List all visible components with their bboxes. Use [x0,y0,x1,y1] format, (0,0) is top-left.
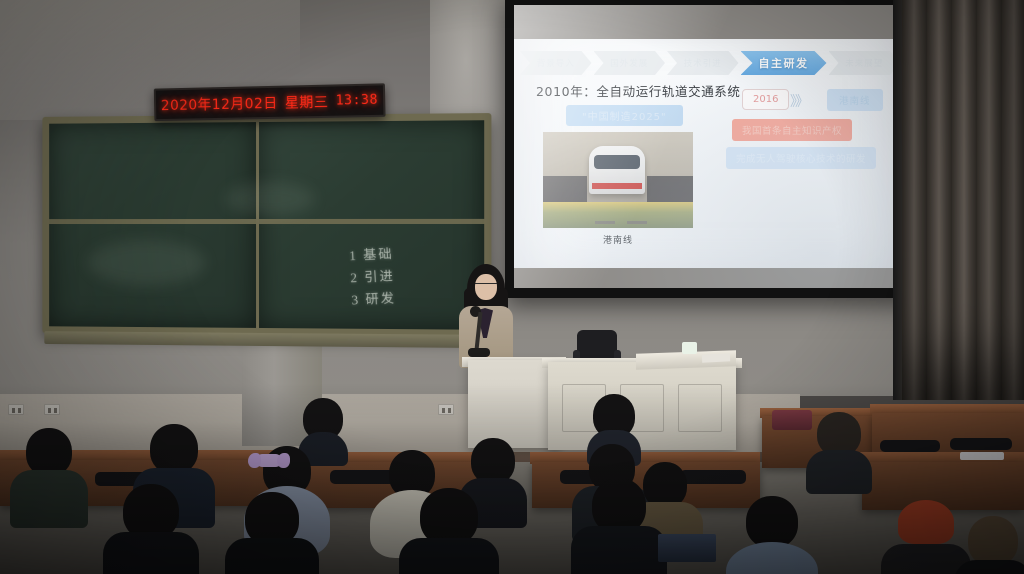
slide-box-ip: 我国首条自主知识产权 [732,119,852,141]
audience-person [808,412,870,478]
slide-nav-step-3: 技术引进 [667,51,739,75]
photo-rail [595,221,615,224]
chalkboard-notes: 1 基础 2 引进 3 研发 [349,239,465,311]
seat-back [950,438,1012,450]
led-clock-date: 2020年12月02日 [161,92,278,114]
chalk-smudge [225,182,315,216]
audience-person-with-beanie [886,500,966,574]
person-torso [954,560,1024,574]
person-head [968,516,1018,566]
maroon-bag [772,410,812,430]
window-curtain [902,0,1024,400]
projection-screen: 背景导入 国外发展 技术引进 自主研发 未来展望 2010年：全自动运行轨道交通… [505,0,915,298]
curtain-edge [893,0,902,400]
microphone-base [468,348,490,357]
slide-arrow-icon: 》》 [790,91,807,111]
led-clock-time: 13:38 [335,93,378,109]
slide-year-chip: 2016 [742,89,789,110]
slide-title: 2010年：全自动运行轨道交通系统 [536,81,741,100]
desk-panel [678,384,722,432]
audience-person [108,484,194,574]
presenter-glasses [475,283,497,288]
chalkboard-pane-left [49,122,258,328]
led-clock-display: 2020年12月02日 星期三 13:38 [154,83,386,121]
person-torso [10,470,88,528]
photo-rail [627,221,647,224]
person-head [150,424,198,474]
tissue-box [682,342,697,354]
beanie-hat [898,500,954,544]
slide-bottom-band [514,268,908,288]
chalkboard-divider-rail [49,219,484,224]
slide-photo-caption: 港南线 [543,233,693,246]
wall-socket [44,404,60,415]
person-torso [103,532,199,574]
audience-person [230,492,314,574]
teacher-desk [548,362,736,450]
seat-back [880,440,940,452]
slide-section-nav: 背景导入 国外发展 技术引进 自主研发 未来展望 [520,51,902,75]
audience-person [958,516,1024,574]
slide-box-rd: 完成无人驾驶核心技术的研发 [726,147,876,169]
chalkboard: 1 基础 2 引进 3 研发 [42,113,491,337]
photo-train [589,146,645,194]
presentation-slide: 背景导入 国外发展 技术引进 自主研发 未来展望 2010年：全自动运行轨道交通… [514,5,908,288]
wall-socket [438,404,454,415]
person-head [746,496,798,548]
audience-person [14,428,84,514]
photo-floor-stripe [543,202,693,228]
slide-nav-step-2: 国外发展 [594,51,666,75]
photo-crowd-left [543,176,587,202]
slide-nav-step-5: 未来展望 [829,51,901,75]
hair-bow [256,454,282,467]
lecture-hall-photo: 1 基础 2 引进 3 研发 2020年12月02日 星期三 13:38 背景导… [0,0,1024,574]
slide-nav-step-4-active: 自主研发 [741,51,827,75]
audience-person [576,478,662,574]
slide-train-photo [543,132,693,228]
audience-laptop [658,534,716,562]
person-head [26,428,72,476]
person-hood [726,542,818,574]
chair-back [577,330,617,360]
slide-tag-made-in-china: "中国制造2025" [566,105,683,126]
audience-person [404,488,494,574]
led-clock-weekday: 星期三 [285,91,329,112]
audience-person [730,496,814,574]
person-torso [399,538,499,574]
person-torso [225,538,319,574]
podium [468,360,560,448]
slide-line-chip: 港南线 [827,89,883,111]
person-torso [806,450,872,494]
slide-nav-step-1: 背景导入 [520,51,592,75]
photo-crowd-right [647,176,693,202]
chalk-smudge [88,240,206,286]
wall-socket [8,404,24,415]
slide-top-band [514,5,908,39]
papers-on-table [702,353,730,362]
person-torso [571,526,667,574]
papers-on-desk [960,452,1004,460]
